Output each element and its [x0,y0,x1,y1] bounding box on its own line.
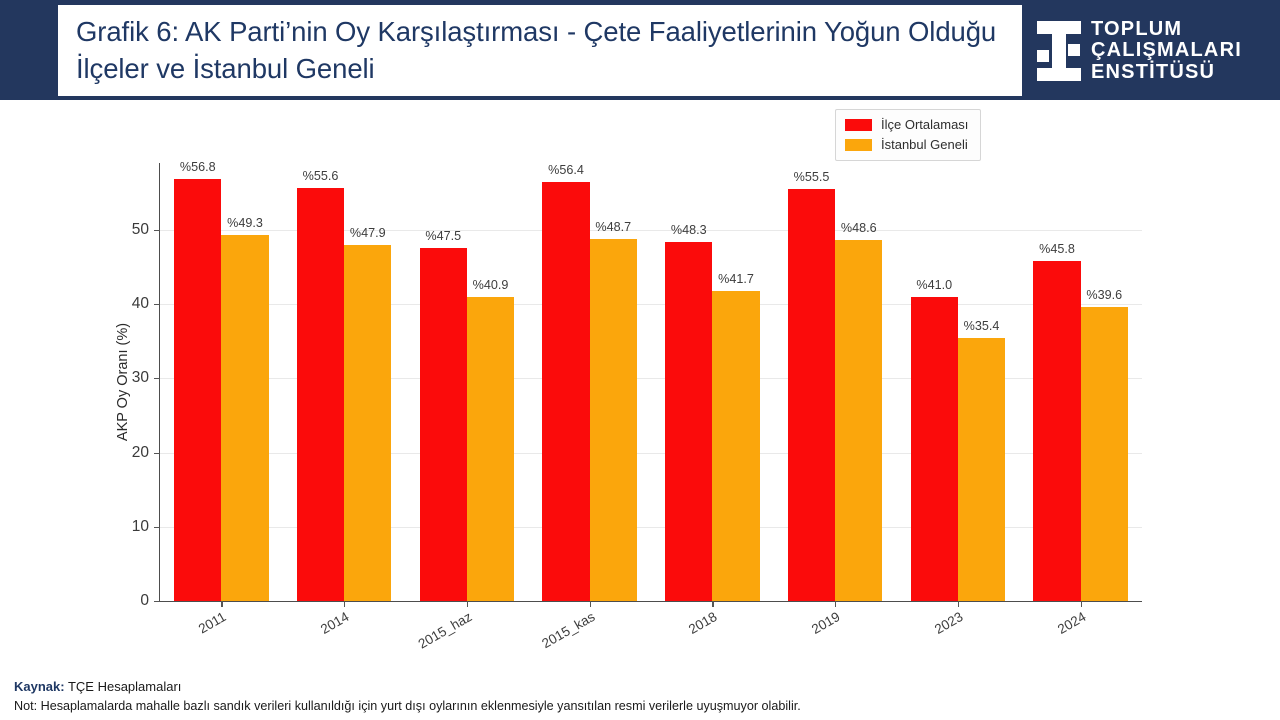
logo-line-1: TOPLUM [1091,19,1242,41]
x-tick [712,601,713,607]
bar-value-label: %48.6 [841,221,877,235]
bar-2023-ilce [911,297,958,601]
bar-value-label: %56.8 [180,160,216,174]
title-box: Grafik 6: AK Parti’nin Oy Karşılaştırmas… [58,5,1022,96]
bar-2015_haz-ilce [420,248,467,601]
x-tick [590,601,591,607]
bar-2015_kas-istanbul [590,239,637,601]
y-tick [154,601,160,602]
footnote: Not: Hesaplamalarda mahalle bazlı sandık… [14,697,1264,716]
x-axis-label-2018: 2018 [659,609,720,653]
legend-label-istanbul: İstanbul Geneli [881,137,968,152]
y-tick [154,527,160,528]
legend-item-ilce: İlçe Ortalaması [845,116,971,133]
bar-2015_kas-ilce [542,182,589,601]
bar-2023-istanbul [958,338,1005,601]
x-tick [467,601,468,607]
bar-value-label: %55.6 [303,169,339,183]
y-tick [154,378,160,379]
bar-2018-ilce [665,242,712,601]
bar-2024-istanbul [1081,307,1128,601]
bar-2024-ilce [1033,261,1080,601]
bar-value-label: %47.5 [425,229,461,243]
x-axis-label-2015_kas: 2015_kas [536,609,597,653]
organization-logo: TOPLUM ÇALIŞMALARI ENSTİTÜSÜ [1035,13,1271,89]
bar-value-label: %39.6 [1086,288,1122,302]
bar-value-label: %45.8 [1039,242,1075,256]
x-axis-label-2023: 2023 [904,609,965,653]
footer: Kaynak: TÇE Hesaplamaları Not: Hesaplama… [14,678,1264,716]
logo-text: TOPLUM ÇALIŞMALARI ENSTİTÜSÜ [1091,19,1242,84]
bar-2018-istanbul [712,291,759,601]
plot-area: AKP Oy Oranı (%) 01020304050 %56.8%49.3%… [160,163,1142,601]
source-label: Kaynak: [14,679,65,694]
x-axis-spine [159,601,1142,603]
y-tick-label: 30 [132,369,149,387]
bar-2019-istanbul [835,240,882,601]
x-tick [221,601,222,607]
y-tick-label: 10 [132,518,149,536]
bar-2014-istanbul [344,245,391,601]
x-tick [1081,601,1082,607]
bar-value-label: %55.5 [794,170,830,184]
y-tick [154,304,160,305]
legend-swatch-icon-ilce [845,119,872,131]
bar-value-label: %41.0 [916,278,952,292]
bar-value-label: %35.4 [964,319,1000,333]
y-tick-label: 0 [140,592,149,610]
x-tick [835,601,836,607]
bar-value-label: %49.3 [227,216,263,230]
x-axis-label-2011: 2011 [168,609,229,653]
bar-value-label: %41.7 [718,272,754,286]
bar-value-label: %56.4 [548,163,584,177]
logo-line-3: ENSTİTÜSÜ [1091,62,1242,84]
bar-value-label: %48.3 [671,223,707,237]
y-axis-spine [159,163,160,601]
source-value: TÇE Hesaplamaları [68,679,181,694]
bar-value-label: %40.9 [473,278,509,292]
y-tick-label: 40 [132,295,149,313]
chart-legend: İlçe Ortalaması İstanbul Geneli [835,109,981,161]
bar-value-label: %47.9 [350,226,386,240]
institute-monogram-icon [1035,20,1081,82]
bar-2011-istanbul [221,235,268,601]
y-tick-label: 20 [132,444,149,462]
logo-line-2: ÇALIŞMALARI [1091,40,1242,62]
bar-2011-ilce [174,179,221,601]
chart-region: AKP Oy Oranı (%) 01020304050 %56.8%49.3%… [0,100,1280,670]
x-tick [344,601,345,607]
x-tick [958,601,959,607]
x-axis-label-2019: 2019 [781,609,842,653]
bar-value-label: %48.7 [595,220,631,234]
legend-swatch-icon-istanbul [845,139,872,151]
y-axis-title: AKP Oy Oranı (%) [115,323,131,441]
x-axis-label-2014: 2014 [290,609,351,653]
x-axis-label-2024: 2024 [1027,609,1088,653]
y-tick [154,230,160,231]
page-title: Grafik 6: AK Parti’nin Oy Karşılaştırmas… [58,14,1022,87]
source-line: Kaynak: TÇE Hesaplamaları [14,678,1264,697]
bar-2014-ilce [297,188,344,601]
y-tick-label: 50 [132,221,149,239]
bar-2019-ilce [788,189,835,601]
legend-label-ilce: İlçe Ortalaması [881,117,968,132]
legend-item-istanbul: İstanbul Geneli [845,136,971,153]
y-tick [154,453,160,454]
bar-2015_haz-istanbul [467,297,514,601]
x-axis-label-2015_haz: 2015_haz [413,609,474,653]
slide-root: Grafik 6: AK Parti’nin Oy Karşılaştırmas… [0,0,1280,720]
